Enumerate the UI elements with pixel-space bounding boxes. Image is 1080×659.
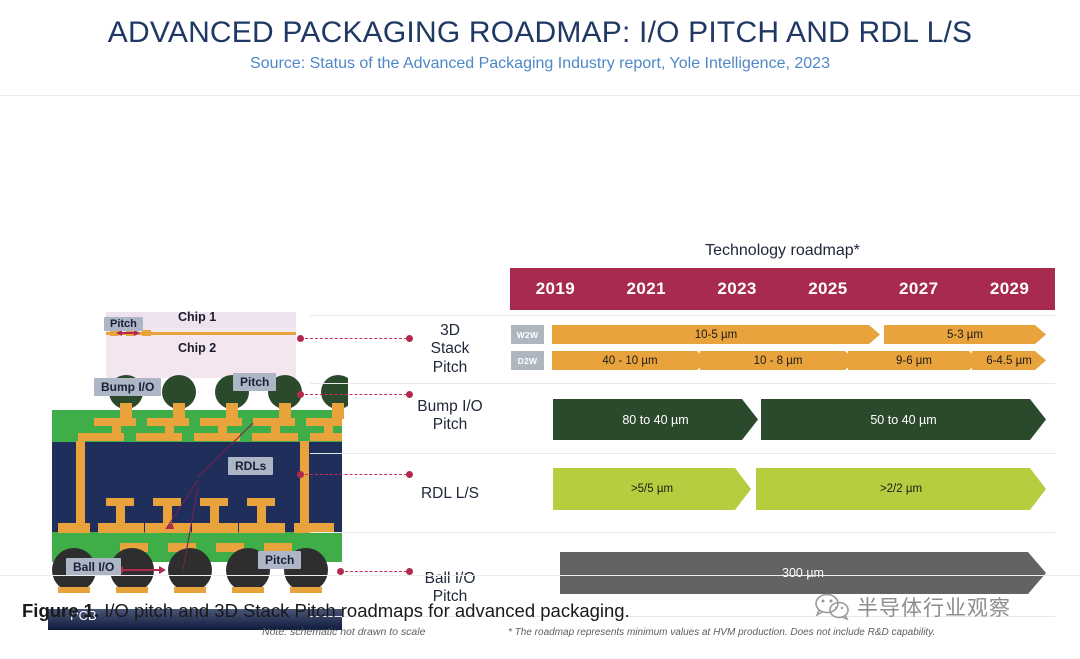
row-label-line-1: 3D <box>400 322 500 340</box>
row-label-line-2: Pitch <box>400 416 500 434</box>
schematic-note: Note: schematic not drawn to scale <box>262 626 425 638</box>
bar-bump-segment-1-label: 80 to 40 µm <box>622 413 688 427</box>
row-separator-3 <box>310 453 1055 454</box>
package-cross-section-schematic: Chip 1 Chip 2 Pitch Bump I/O Pitch RDLs … <box>48 305 348 630</box>
bump-pitch-callout: Pitch <box>233 373 276 391</box>
bar-rdl-segment-1: >5/5 µm <box>553 468 751 510</box>
watermark: 半导体行业观察 <box>815 592 1011 622</box>
connector-dot-bump-left <box>297 391 304 398</box>
row-label-line-3: Pitch <box>400 359 500 377</box>
wechat-icon <box>815 593 849 621</box>
bar-rdl-segment-2: >2/2 µm <box>756 468 1046 510</box>
connector-dot-stack-left <box>297 335 304 342</box>
bar-w2w-segment-1-label: 10-5 µm <box>695 329 737 341</box>
bar-w2w-segment-2: 5-3 µm <box>884 325 1046 344</box>
connector-dot-rdl-right <box>406 471 413 478</box>
chip2-label: Chip 2 <box>178 341 216 355</box>
ball-pitch-callout: Pitch <box>258 551 301 569</box>
bar-d2w-segment-2-label: 10 - 8 µm <box>754 355 803 367</box>
bump-io-callout: Bump I/O <box>94 378 161 396</box>
bar-bump-segment-2-label: 50 to 40 µm <box>870 413 936 427</box>
bar-d2w-segment-4: 6-4.5 µm <box>972 351 1046 370</box>
connector-line-stack <box>300 338 412 339</box>
year-cell-2023: 2023 <box>692 268 783 310</box>
row-separator-2 <box>310 383 1055 384</box>
row-label-rdl-ls: RDL L/S <box>400 485 500 503</box>
connector-dot-bump-right <box>406 391 413 398</box>
figure-caption-prefix: Figure 1. <box>22 600 99 621</box>
bar-d2w-segment-1: 40 - 10 µm <box>552 351 708 370</box>
rdls-callout: RDLs <box>228 457 273 475</box>
row-label-line-1: Bump I/O <box>400 398 500 416</box>
ball-io-callout: Ball I/O <box>66 558 121 576</box>
tag-d2w: D2W <box>511 351 544 370</box>
row-label-3d-stack-pitch: 3D Stack Pitch <box>400 322 500 377</box>
bar-d2w-segment-4-label: 6-4.5 µm <box>986 355 1032 367</box>
pitch-top-callout: Pitch <box>104 317 143 331</box>
caption-divider <box>0 575 1080 576</box>
bar-w2w-segment-1: 10-5 µm <box>552 325 880 344</box>
figure-caption-text: I/O pitch and 3D Stack Pitch roadmaps fo… <box>99 600 630 621</box>
bar-d2w-segment-1-label: 40 - 10 µm <box>602 355 657 367</box>
row-label-line-1: RDL L/S <box>400 485 500 503</box>
bar-w2w-segment-2-label: 5-3 µm <box>947 329 983 341</box>
bar-ball-segment-1: 300 µm <box>560 552 1046 594</box>
page-title: ADVANCED PACKAGING ROADMAP: I/O PITCH AN… <box>0 16 1080 50</box>
bar-ball-segment-1-label: 300 µm <box>782 566 824 580</box>
technology-roadmap-heading: Technology roadmap* <box>510 242 1055 260</box>
header-divider <box>0 95 1080 96</box>
bar-bump-segment-2: 50 to 40 µm <box>761 399 1046 440</box>
year-cell-2029: 2029 <box>964 268 1055 310</box>
chip1-label: Chip 1 <box>178 310 216 324</box>
connector-line-bump <box>300 394 412 395</box>
bar-d2w-segment-2: 10 - 8 µm <box>700 351 856 370</box>
bar-rdl-segment-2-label: >2/2 µm <box>880 483 922 495</box>
page-subtitle: Source: Status of the Advanced Packaging… <box>0 55 1080 73</box>
year-cell-2027: 2027 <box>873 268 964 310</box>
connector-dot-ball-left <box>337 568 344 575</box>
year-header-bar: 2019 2021 2023 2025 2027 2029 <box>510 268 1055 310</box>
bar-d2w-segment-3-label: 9-6 µm <box>896 355 932 367</box>
roadmap-footnote: * The roadmap represents minimum values … <box>508 627 935 638</box>
figure-caption: Figure 1. I/O pitch and 3D Stack Pitch r… <box>22 600 630 622</box>
year-cell-2025: 2025 <box>782 268 873 310</box>
year-cell-2019: 2019 <box>510 268 601 310</box>
row-separator-1 <box>310 315 1055 316</box>
row-separator-4 <box>310 532 1055 533</box>
bar-rdl-segment-1-label: >5/5 µm <box>631 483 673 495</box>
figure-page: ADVANCED PACKAGING ROADMAP: I/O PITCH AN… <box>0 0 1080 659</box>
connector-line-rdl <box>300 474 412 475</box>
row-label-line-1: Ball I/O <box>400 570 500 588</box>
connector-dot-rdl-left <box>297 471 304 478</box>
bar-bump-segment-1: 80 to 40 µm <box>553 399 758 440</box>
row-label-bump-io-pitch: Bump I/O Pitch <box>400 398 500 435</box>
year-cell-2021: 2021 <box>601 268 692 310</box>
figure-body: Chip 1 Chip 2 Pitch Bump I/O Pitch RDLs … <box>0 100 1080 575</box>
bar-d2w-segment-3: 9-6 µm <box>848 351 980 370</box>
row-label-line-2: Stack <box>400 340 500 358</box>
watermark-text: 半导体行业观察 <box>857 592 1011 622</box>
tag-w2w: W2W <box>511 325 544 344</box>
